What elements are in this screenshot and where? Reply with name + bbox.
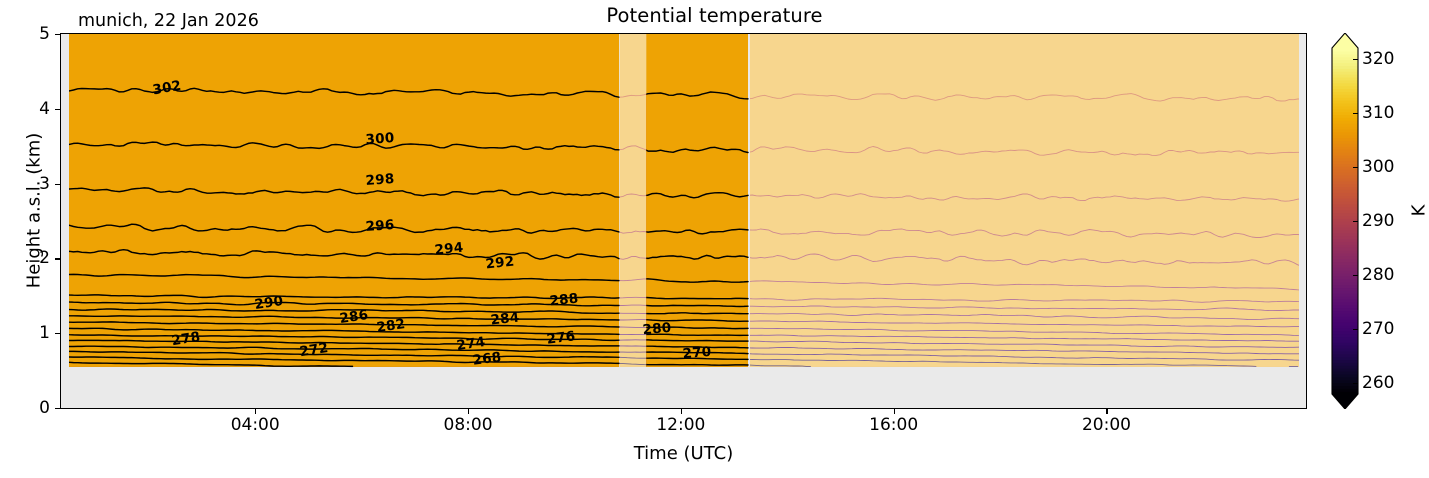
x-tick-mark	[1106, 409, 1107, 414]
colorbar-tick-label-320: 320	[1362, 49, 1394, 69]
y-tick-mark	[55, 109, 60, 110]
colorbar-tick-mark	[1353, 221, 1358, 222]
colorbar-tick-mark	[1353, 59, 1358, 60]
colorbar-tick-mark	[1353, 167, 1358, 168]
figure-canvas: Potential temperature munich, 22 Jan 202…	[0, 0, 1429, 478]
colorbar-tick-label-300: 300	[1362, 157, 1394, 177]
x-tick-label-1600: 16:00	[869, 415, 918, 435]
contour-label-296: 296	[365, 217, 395, 235]
contour-label-292: 292	[485, 253, 515, 272]
y-tick-label-5: 5	[30, 24, 50, 44]
y-tick-mark	[55, 333, 60, 334]
colorbar-tick-label-280: 280	[1362, 265, 1394, 285]
colorbar-tick-label-260: 260	[1362, 373, 1394, 393]
colorbar-tick-label-270: 270	[1362, 319, 1394, 339]
colorbar-tick-mark	[1353, 275, 1358, 276]
y-tick-label-0: 0	[30, 398, 50, 418]
contour-label-288: 288	[549, 290, 579, 309]
colorbar-tick-mark	[1353, 329, 1358, 330]
contour-label-300: 300	[365, 130, 395, 148]
panel-subtitle: munich, 22 Jan 2026	[78, 11, 259, 31]
y-tick-mark	[55, 184, 60, 185]
contour-label-280: 280	[642, 319, 672, 337]
x-tick-label-2000: 20:00	[1082, 415, 1131, 435]
x-tick-mark	[255, 409, 256, 414]
colorbar-label: K	[1409, 181, 1429, 241]
x-tick-label-0800: 08:00	[444, 415, 493, 435]
x-tick-label-0400: 04:00	[231, 415, 280, 435]
x-tick-mark	[468, 409, 469, 414]
contour-label-284: 284	[490, 310, 520, 329]
colorbar-tick-mark	[1353, 383, 1358, 384]
x-tick-mark	[894, 409, 895, 414]
x-tick-label-1200: 12:00	[656, 415, 705, 435]
y-axis-label: Height a.s.l. (km)	[24, 91, 45, 331]
y-tick-mark	[55, 34, 60, 35]
y-tick-mark	[55, 258, 60, 259]
colorbar-tick-label-290: 290	[1362, 211, 1394, 231]
colorbar-tick-mark	[1353, 113, 1358, 114]
y-tick-mark	[55, 408, 60, 409]
x-axis-label: Time (UTC)	[60, 443, 1307, 464]
colorbar-tick-label-310: 310	[1362, 103, 1394, 123]
contour-label-298: 298	[365, 171, 395, 189]
contour-label-270: 270	[682, 344, 712, 362]
contour-label-268: 268	[471, 349, 502, 368]
x-tick-mark	[681, 409, 682, 414]
